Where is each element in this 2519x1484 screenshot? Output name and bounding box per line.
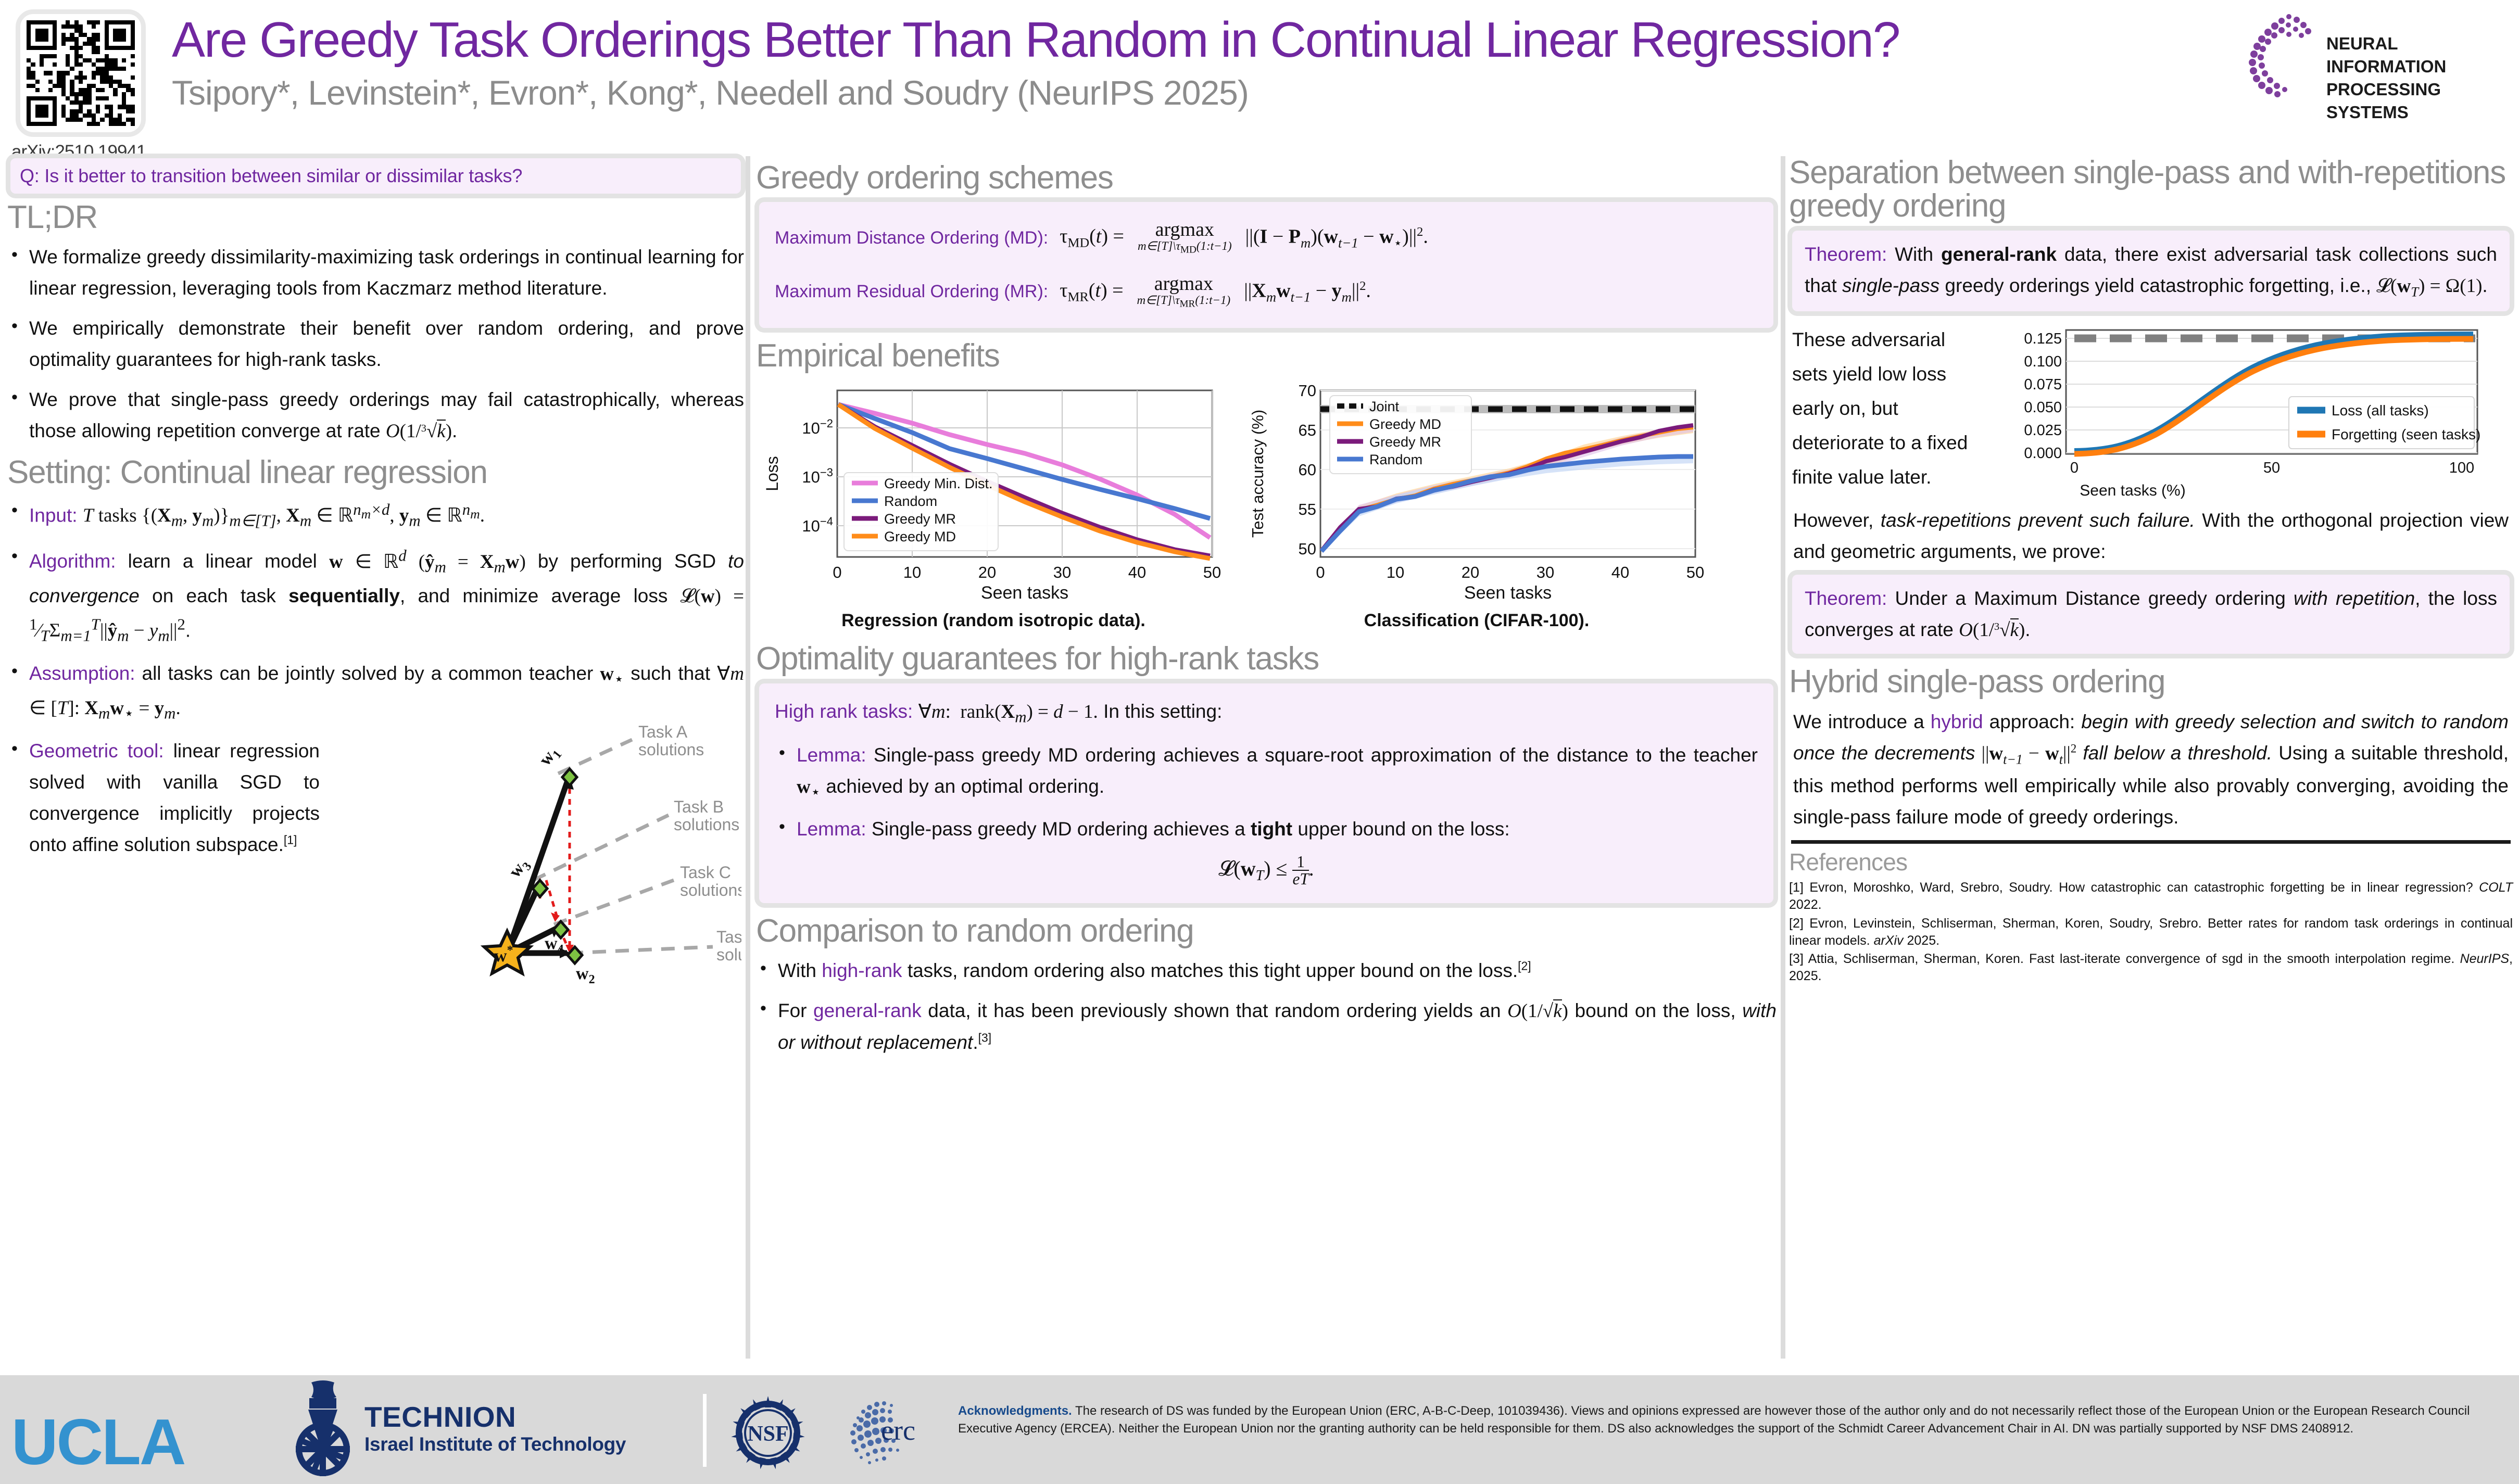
- regression-chart: 10−2 10−3 10−4 0 10 20 30 40 50 Seen tas…: [759, 380, 1228, 604]
- section-heading-optimality: Optimality guarantees for high-rank task…: [756, 642, 1777, 676]
- list-item: Assumption: all tasks can be jointly sol…: [7, 658, 744, 727]
- legend-label-random: Random: [884, 493, 937, 509]
- research-question: Q: Is it better to transition between si…: [20, 165, 732, 187]
- page-title: Are Greedy Task Orderings Better Than Ra…: [172, 11, 1899, 69]
- legend-regression: Greedy Min. Dist. Random Greedy MR Greed…: [844, 473, 998, 551]
- neurips-swirl-icon: [2227, 10, 2326, 99]
- ytick-0125: 0.125: [2024, 331, 2062, 347]
- geometric-tool-figure: Geometric tool: linear regression solved…: [7, 735, 736, 996]
- right-column: Separation between single-pass and with-…: [1789, 156, 2513, 986]
- list-item: Lemma: Single-pass greedy MD ordering ac…: [775, 740, 1758, 805]
- plot-caption-classification: Classification (CIFAR-100).: [1242, 611, 1711, 631]
- label-w3: w3: [505, 854, 534, 883]
- optimality-box: High rank tasks: ∀m: rank(Xm) = d − 1. I…: [759, 683, 1773, 903]
- xtick-10: 10: [1387, 563, 1404, 581]
- poster-footer: UCLA TECHNION Israel Institute of Techno…: [0, 1375, 2519, 1484]
- list-item: We empirically demonstrate their benefit…: [7, 313, 744, 375]
- theorem-1-box: Theorem: With general-rank data, there e…: [1792, 231, 2510, 311]
- ytick-0075: 0.075: [2024, 376, 2062, 393]
- label-w1: w1: [535, 742, 564, 771]
- list-item: Input: T tasks {(Xm, ym)}m∈[T], Xm ∈ ℝnm…: [7, 497, 744, 535]
- list-item: For general-rank data, it has been previ…: [756, 995, 1777, 1058]
- section-heading-setting: Setting: Continual linear regression: [7, 456, 744, 489]
- task-a-label: Task A: [638, 724, 688, 741]
- xtick-20: 20: [978, 563, 996, 581]
- scheme-md-label: Maximum Distance Ordering (MD):: [775, 228, 1048, 248]
- scheme-mr-label: Maximum Residual Ordering (MR):: [775, 282, 1048, 302]
- legend-classification: Joint Greedy MD Greedy MR Random: [1330, 396, 1471, 474]
- legend-label-greedy-md: Greedy MD: [884, 529, 956, 544]
- technion-logo-text: TECHNION Israel Institute of Technology: [364, 1400, 626, 1455]
- list-item: Geometric tool: linear regression solved…: [7, 735, 320, 860]
- ytick-1e-2: 10−2: [802, 417, 833, 437]
- adversarial-chart: 0.125 0.100 0.075 0.050 0.025 0.000 0 50…: [1972, 323, 2493, 479]
- xtick-40: 40: [1128, 563, 1146, 581]
- erc-text: erc: [881, 1415, 915, 1446]
- ytick-0025: 0.025: [2024, 422, 2062, 439]
- adversarial-text: These adversarial sets yield low loss ea…: [1792, 323, 1969, 494]
- xtick-10: 10: [903, 563, 921, 581]
- task-c-sub: solutions: [680, 881, 741, 899]
- technion-subtitle: Israel Institute of Technology: [364, 1434, 626, 1455]
- column-divider-2: [1781, 156, 1785, 1359]
- technion-name: TECHNION: [364, 1400, 626, 1434]
- section-heading-empirical: Empirical benefits: [756, 339, 1777, 373]
- xtick-30: 30: [1053, 563, 1071, 581]
- acknowledgments-text: The research of DS was funded by the Eur…: [958, 1404, 2470, 1436]
- xtick-100: 100: [2449, 460, 2474, 476]
- legend-label-greedy-min-dist: Greedy Min. Dist.: [884, 476, 993, 491]
- theorem-1-label: Theorem:: [1805, 244, 1887, 265]
- theorem-2-box: Theorem: Under a Maximum Distance greedy…: [1792, 575, 2510, 654]
- scheme-md-row: Maximum Distance Ordering (MD): τMD(t) =…: [775, 220, 1758, 256]
- list-item: With high-rank tasks, random ordering al…: [756, 955, 1777, 986]
- ytick-55: 55: [1299, 500, 1316, 518]
- tldr-bullet-list: We formalize greedy dissimilarity-maximi…: [7, 242, 744, 447]
- xtick-40: 40: [1611, 563, 1629, 581]
- legend-adversarial: Loss (all tasks) Forgetting (seen tasks): [2289, 397, 2480, 449]
- legend-label-loss: Loss (all tasks): [2332, 402, 2429, 418]
- poster-header: arXiv:2510.19941 Are Greedy Task Orderin…: [0, 0, 2519, 156]
- greedy-schemes-box: Maximum Distance Ordering (MD): τMD(t) =…: [759, 202, 1773, 327]
- ytick-70: 70: [1299, 382, 1316, 400]
- ytick-1e-4: 10−4: [802, 515, 833, 535]
- reference-item: [3] Attia, Schliserman, Sherman, Koren. …: [1789, 950, 2513, 985]
- ytick-65: 65: [1299, 421, 1316, 439]
- legend-label-greedy-mr: Greedy MR: [884, 511, 956, 527]
- footer-separator: [703, 1394, 707, 1467]
- xaxis-label-regression: Seen tasks: [981, 583, 1068, 603]
- theorem-2-label: Theorem:: [1805, 588, 1887, 609]
- xaxis-label-classification: Seen tasks: [1464, 583, 1552, 603]
- theorem-2-text: Theorem: Under a Maximum Distance greedy…: [1805, 583, 2497, 646]
- nsf-text: NSF: [747, 1422, 788, 1446]
- scheme-mr-row: Maximum Residual Ordering (MR): τMR(t) =…: [775, 274, 1758, 310]
- legend-label-greedy-md-cifar: Greedy MD: [1369, 416, 1441, 432]
- lemma-formula: 𝓛(wT) ≤ 1eT.: [775, 854, 1758, 887]
- setting-label-assumption: Assumption:: [29, 663, 135, 684]
- legend-label-joint: Joint: [1369, 399, 1400, 414]
- reference-item: [1] Evron, Moroshko, Ward, Srebro, Soudr…: [1789, 879, 2513, 914]
- acknowledgments: Acknowledgments. The research of DS was …: [958, 1402, 2499, 1438]
- section-heading-references: References: [1789, 848, 2513, 876]
- task-d-line: [570, 947, 713, 953]
- task-b-sub: solutions: [674, 815, 739, 834]
- task-c-line: [554, 880, 674, 924]
- qr-code[interactable]: [16, 9, 146, 137]
- research-question-box: Q: Is it better to transition between si…: [10, 158, 741, 194]
- setting-label-algorithm: Algorithm:: [29, 551, 116, 572]
- high-rank-label: High rank tasks:: [775, 701, 913, 722]
- task-d-sub: solutions: [716, 945, 741, 964]
- empirical-plots: 10−2 10−3 10−4 0 10 20 30 40 50 Seen tas…: [759, 380, 1777, 631]
- lemma-label-2: Lemma:: [797, 818, 866, 840]
- nsf-logo-icon: NSF: [729, 1394, 807, 1472]
- label-w2: w2: [576, 964, 595, 984]
- ytick-1e-3: 10−3: [802, 466, 833, 486]
- section-heading-hybrid: Hybrid single-pass ordering: [1789, 665, 2513, 699]
- hybrid-text: We introduce a hybrid approach: begin wi…: [1793, 706, 2509, 833]
- list-item: We formalize greedy dissimilarity-maximi…: [7, 242, 744, 304]
- xtick-30: 30: [1536, 563, 1554, 581]
- section-heading-comparison: Comparison to random ordering: [756, 915, 1777, 948]
- plot-classification: 70 65 60 55 50 0 10 20 30 40 50 Seen tas…: [1242, 380, 1711, 631]
- xtick-0: 0: [833, 563, 841, 581]
- list-item: We prove that single-pass greedy orderin…: [7, 384, 744, 447]
- xtick-50: 50: [1686, 563, 1704, 581]
- plot-regression: 10−2 10−3 10−4 0 10 20 30 40 50 Seen tas…: [759, 380, 1228, 631]
- neurips-logo: NEURAL INFORMATION PROCESSING SYSTEMS: [2227, 10, 2498, 99]
- ucla-logo: UCLA: [11, 1405, 184, 1479]
- xtick-20: 20: [1462, 563, 1479, 581]
- left-column: Q: Is it better to transition between si…: [7, 156, 744, 996]
- author-list: Tsipory*, Levinstein*, Evron*, Kong*, Ne…: [172, 73, 1249, 112]
- column-divider-1: [746, 156, 750, 1359]
- ytick-0050: 0.050: [2024, 399, 2062, 416]
- references-list: [1] Evron, Moroshko, Ward, Srebro, Soudr…: [1789, 879, 2513, 985]
- section-heading-tldr: TL;DR: [7, 201, 744, 234]
- acknowledgments-label: Acknowledgments.: [958, 1404, 1072, 1418]
- however-text: However, task-repetitions prevent such f…: [1793, 505, 2509, 567]
- xtick-0: 0: [2070, 460, 2079, 476]
- ytick-0000: 0.000: [2024, 445, 2062, 462]
- solution-subspace-diagram: w1 w3 w4 w2 w* Task A solutions Task B s…: [309, 724, 741, 984]
- xtick-50: 50: [1203, 563, 1221, 581]
- task-d-label: Task D: [716, 928, 741, 946]
- task-a-sub: solutions: [638, 740, 704, 759]
- comparison-bullet-list: With high-rank tasks, random ordering al…: [756, 955, 1777, 1058]
- classification-chart: 70 65 60 55 50 0 10 20 30 40 50 Seen tas…: [1242, 380, 1711, 604]
- references-divider: [1791, 840, 2511, 844]
- task-c-label: Task C: [680, 863, 731, 882]
- setting-label-input: Input:: [29, 504, 78, 526]
- lemma-label-1: Lemma:: [797, 744, 866, 766]
- middle-column: Greedy ordering schemes Maximum Distance…: [756, 156, 1777, 1067]
- section-heading-greedy: Greedy ordering schemes: [756, 161, 1777, 195]
- legend-label-forgetting: Forgetting (seen tasks): [2332, 426, 2480, 442]
- xtick-50: 50: [2263, 460, 2280, 476]
- xaxis-label-adversarial: Seen tasks (%): [1961, 482, 2304, 500]
- setting-label-geometric-tool: Geometric tool:: [29, 740, 164, 762]
- xtick-0: 0: [1316, 563, 1325, 581]
- lemma-list: Lemma: Single-pass greedy MD ordering ac…: [775, 740, 1758, 845]
- legend-label-random-cifar: Random: [1369, 452, 1422, 467]
- neurips-logo-text: NEURAL INFORMATION PROCESSING SYSTEMS: [2326, 32, 2498, 124]
- adversarial-row: These adversarial sets yield low loss ea…: [1792, 323, 2510, 494]
- high-rank-definition: High rank tasks: ∀m: rank(Xm) = d − 1. I…: [775, 696, 1758, 730]
- list-item: Lemma: Single-pass greedy MD ordering ac…: [775, 814, 1758, 845]
- plot-caption-regression: Regression (random isotropic data).: [759, 611, 1228, 631]
- yaxis-label-regression: Loss: [763, 456, 782, 491]
- setting-bullet-list: Input: T tasks {(Xm, ym)}m∈[T], Xm ∈ ℝnm…: [7, 497, 744, 727]
- task-b-label: Task B: [674, 797, 724, 816]
- ytick-50: 50: [1299, 540, 1316, 558]
- ytick-60: 60: [1299, 461, 1316, 479]
- ytick-0100: 0.100: [2024, 353, 2062, 370]
- yaxis-label-classification: Test accuracy (%): [1249, 410, 1267, 538]
- theorem-1-text: Theorem: With general-rank data, there e…: [1805, 239, 2497, 303]
- reference-item: [2] Evron, Levinstein, Schliserman, Sher…: [1789, 915, 2513, 950]
- qr-code-pattern: [27, 20, 135, 126]
- erc-logo-icon: erc: [843, 1394, 927, 1472]
- legend-label-greedy-mr-cifar: Greedy MR: [1369, 434, 1441, 450]
- section-heading-separation: Separation between single-pass and with-…: [1789, 156, 2513, 223]
- list-item: Algorithm: learn a linear model w ∈ ℝd (…: [7, 543, 744, 649]
- technion-logo-icon: [281, 1380, 364, 1479]
